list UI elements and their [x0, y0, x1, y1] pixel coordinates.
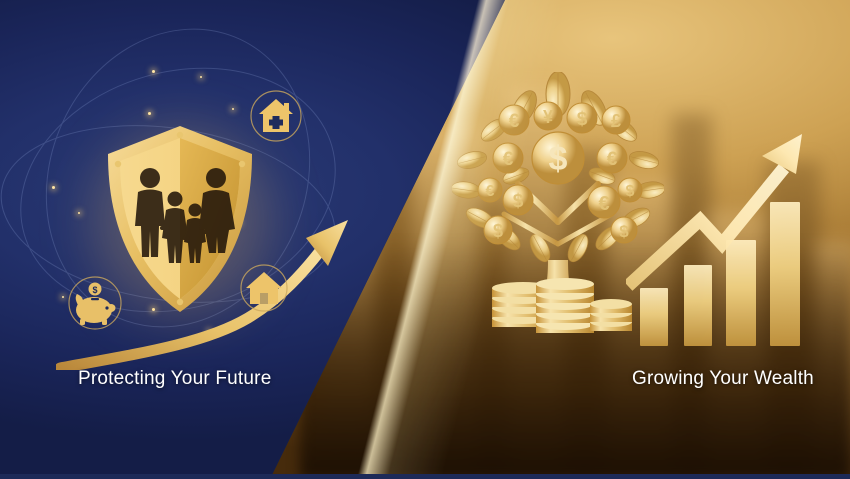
health-home-badge[interactable]: [248, 88, 304, 144]
house-with-medical-cross-icon: [259, 99, 293, 132]
sparkle: [148, 112, 151, 115]
savings-badge[interactable]: $: [64, 272, 126, 334]
svg-text:€: €: [509, 111, 520, 132]
svg-text:€: €: [486, 183, 495, 200]
coin-stack-center: [536, 278, 594, 333]
gold-coin-stacks: [486, 268, 636, 338]
bar-series: [640, 202, 800, 346]
sparkle: [152, 70, 155, 73]
svg-text:$: $: [92, 285, 97, 295]
svg-text:$: $: [626, 183, 635, 200]
sparkle: [232, 108, 234, 110]
svg-text:€: €: [607, 149, 618, 170]
protection-caption: Protecting Your Future: [78, 368, 271, 390]
svg-text:£: £: [611, 111, 621, 131]
svg-text:$: $: [577, 109, 588, 130]
house-icon: [246, 272, 282, 304]
svg-text:€: €: [598, 193, 609, 215]
svg-text:$: $: [549, 140, 568, 178]
bottom-edge-strip: [0, 474, 850, 479]
svg-text:$: $: [513, 191, 524, 212]
banner-root: $ € ¥ $ £ € € € $ $: [0, 0, 850, 479]
coin-stack-right: [590, 299, 632, 331]
svg-text:€: €: [503, 149, 514, 170]
sparkle: [52, 186, 55, 189]
protection-shield: [104, 124, 256, 314]
wealth-caption: Growing Your Wealth: [632, 368, 814, 390]
home-badge[interactable]: [236, 260, 292, 316]
svg-text:¥: ¥: [543, 107, 553, 127]
svg-text:$: $: [493, 221, 503, 241]
svg-text:$: $: [619, 222, 629, 241]
sparkle: [200, 76, 202, 78]
